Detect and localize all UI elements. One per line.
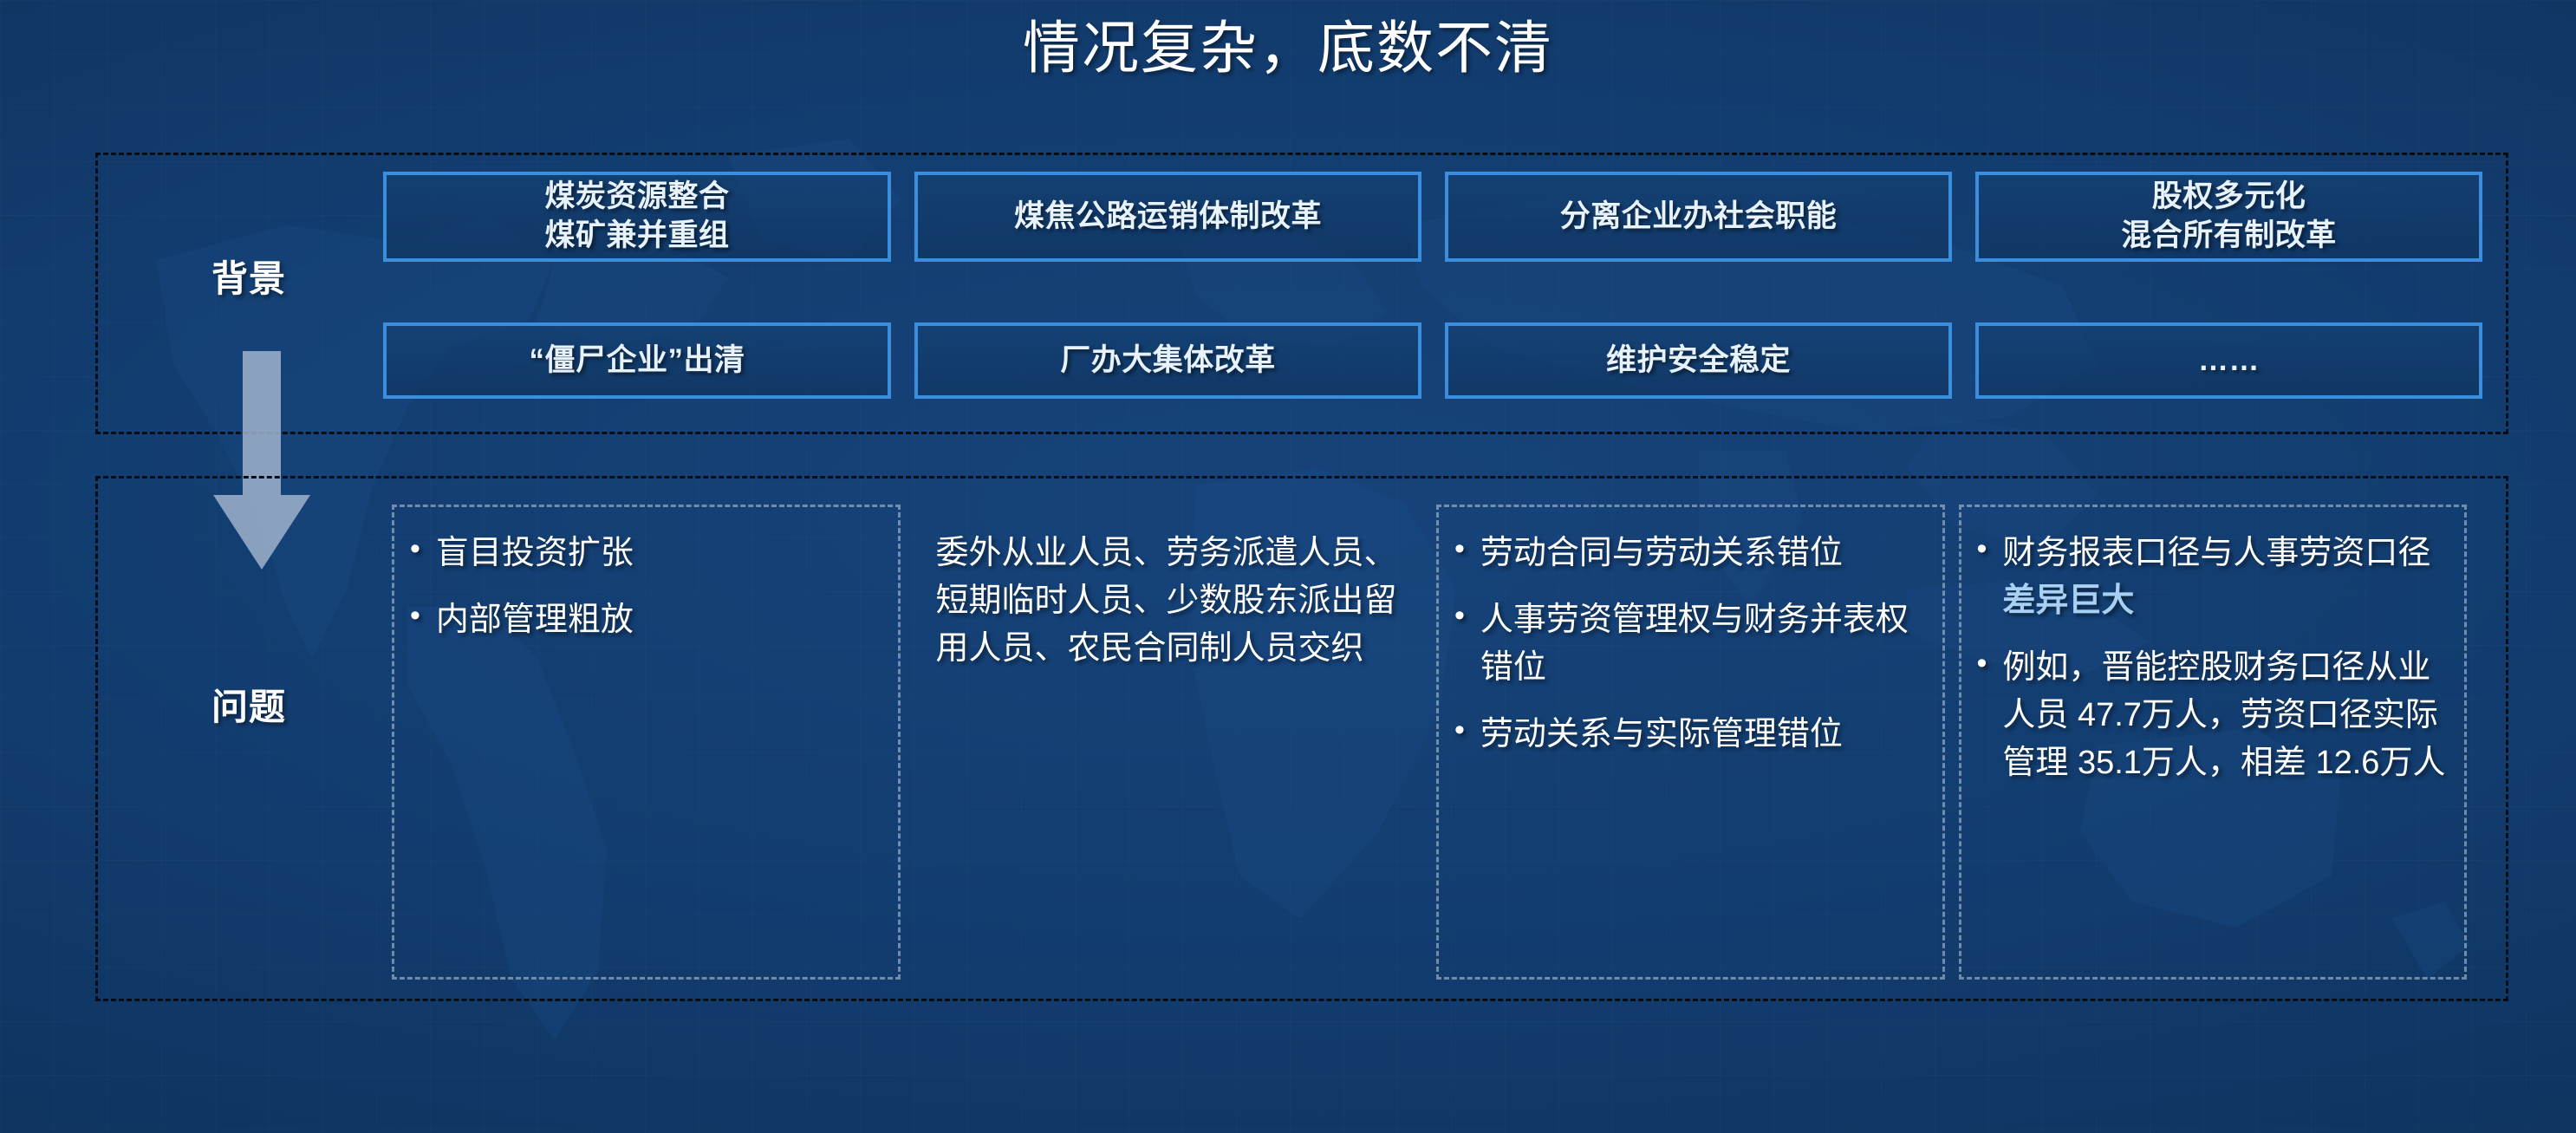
list-item-label: 劳动合同与劳动关系错位 [1480,530,1927,577]
list-item: • 劳动关系与实际管理错位 [1454,711,1927,759]
bullet-list: • 劳动合同与劳动关系错位 • 人事劳资管理权与财务并表权错位 • 劳动关系与实… [1454,530,1927,759]
problem-column-4: • 财务报表口径与人事劳资口径差异巨大 • 例如，晋能控股财务口径从业人员 47… [1959,505,2468,980]
section-label-problem: 问题 [211,678,286,731]
bullet-dot-icon: • [1454,709,1465,752]
list-item-label: 劳动关系与实际管理错位 [1480,711,1927,759]
list-item: • 盲目投资扩张 [410,530,882,577]
tag-line-1: 分离企业办社会职能 [1560,198,1838,237]
tag-line-1: …… [2198,342,2260,381]
bullet-dot-icon: • [1454,528,1465,570]
background-tag-0-1[interactable]: 煤焦公路运销体制改革 [914,172,1421,262]
bullet-dot-icon: • [410,528,420,570]
tag-line-1: 煤焦公路运销体制改革 [1014,198,1322,237]
list-item: • 人事劳资管理权与财务并表权错位 [1454,596,1927,692]
list-item-highlight: 差异巨大 [2002,583,2134,619]
list-item: • 财务报表口径与人事劳资口径差异巨大 [1977,530,2449,625]
bullet-dot-icon: • [1454,595,1465,637]
slide-canvas: 情况复杂，底数不清 背景 煤炭资源整合 煤矿兼并重组 煤焦公路运销体制改革 分离… [0,0,2576,1133]
page-title: 情况复杂，底数不清 [0,12,2576,84]
tag-line-1: 煤炭资源整合 [544,178,729,217]
tag-line-1: 维护安全稳定 [1606,342,1791,381]
background-tag-row-1: 煤炭资源整合 煤矿兼并重组 煤焦公路运销体制改革 分离企业办社会职能 股权多元化… [383,172,2467,262]
bullet-dot-icon: • [410,595,420,637]
background-tag-0-3[interactable]: 股权多元化 混合所有制改革 [1975,172,2482,262]
background-tag-0-2[interactable]: 分离企业办社会职能 [1445,172,1952,262]
problem-paragraph: 委外从业人员、劳务派遣人员、短期临时人员、少数股东派出留用人员、农民合同制人员交… [933,530,1405,673]
problem-column-3: • 劳动合同与劳动关系错位 • 人事劳资管理权与财务并表权错位 • 劳动关系与实… [1436,505,1945,980]
background-tag-row-2: “僵尸企业”出清 厂办大集体改革 维护安全稳定 …… [383,322,2467,399]
tag-line-1: 厂办大集体改革 [1060,342,1276,381]
background-tag-1-3[interactable]: …… [1975,322,2482,399]
list-item-text-part: 财务报表口径与人事劳资口径 [2002,535,2430,571]
tag-line-2: 煤矿兼并重组 [544,217,729,256]
tag-line-1: 股权多元化 [2121,178,2337,217]
background-tag-1-0[interactable]: “僵尸企业”出清 [383,322,891,399]
problem-columns: • 盲目投资扩张 • 内部管理粗放 委外从业人员、劳务派遣人员、短期临时人员、少… [392,505,2467,980]
list-item: • 例如，晋能控股财务口径从业人员 47.7万人，劳资口径实际管理 35.1万人… [1977,644,2449,787]
background-tag-0-0[interactable]: 煤炭资源整合 煤矿兼并重组 [383,172,891,262]
tag-line-2: 混合所有制改革 [2121,217,2337,256]
background-tag-1-1[interactable]: 厂办大集体改革 [914,322,1421,399]
bullet-dot-icon: • [1977,642,1987,685]
list-item-label: 财务报表口径与人事劳资口径差异巨大 [2002,530,2449,625]
section-label-background: 背景 [211,250,286,303]
bullet-list: • 财务报表口径与人事劳资口径差异巨大 • 例如，晋能控股财务口径从业人员 47… [1977,530,2449,787]
problem-column-1: • 盲目投资扩张 • 内部管理粗放 [392,505,901,980]
list-item: • 内部管理粗放 [410,596,882,644]
list-item: • 劳动合同与劳动关系错位 [1454,530,1927,577]
problem-column-2: 委外从业人员、劳务派遣人员、短期临时人员、少数股东派出留用人员、农民合同制人员交… [914,505,1423,980]
list-item-label: 盲目投资扩张 [436,530,882,577]
list-item-label: 例如，晋能控股财务口径从业人员 47.7万人，劳资口径实际管理 35.1万人，相… [2002,644,2449,787]
list-item-label: 内部管理粗放 [436,596,882,644]
bullet-dot-icon: • [1977,528,1987,570]
bullet-list: • 盲目投资扩张 • 内部管理粗放 [410,530,882,644]
list-item-label: 人事劳资管理权与财务并表权错位 [1480,596,1927,692]
tag-line-1: “僵尸企业”出清 [529,342,745,381]
background-tag-1-2[interactable]: 维护安全稳定 [1445,322,1952,399]
